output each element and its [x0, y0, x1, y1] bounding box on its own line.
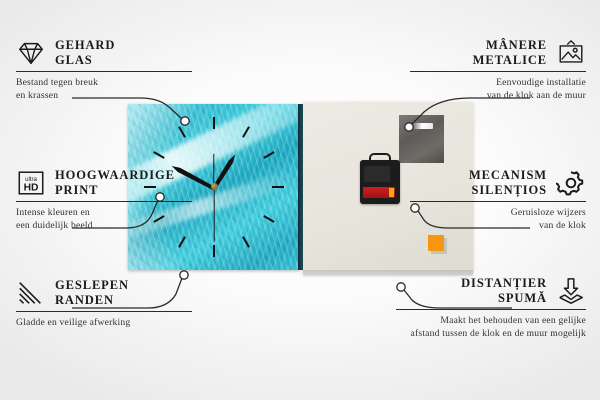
feature-title: GESLEPEN RANDEN	[55, 278, 129, 309]
feature-desc-line1: Gladde en veilige afwerking	[16, 316, 192, 329]
hour-tick	[213, 117, 215, 129]
feature-header: MECANISM SILENȚIOS	[410, 168, 586, 199]
feature-header: DISTANȚIER SPUMĂ	[396, 276, 586, 307]
metal-hanger-plate	[399, 115, 444, 163]
feature-title-line1: MECANISM	[469, 168, 547, 183]
feature-description: Bestand tegen breuk en krassen	[16, 72, 192, 102]
feature-title-line2: RANDEN	[55, 293, 129, 308]
hour-tick	[264, 215, 275, 223]
feature-header: GESLEPEN RANDEN	[16, 278, 192, 309]
hour-tick	[213, 245, 215, 257]
infographic-canvas: GEHARD GLAS Bestand tegen breuk en krass…	[0, 0, 600, 400]
feature-title-line2: PRINT	[55, 183, 175, 198]
feature-desc-line1: Intense kleuren en	[16, 206, 192, 219]
feature-distantier-spuma: DISTANȚIER SPUMĂ Maakt het behouden van …	[396, 276, 586, 340]
feature-title-line2: GLAS	[55, 53, 115, 68]
feature-manere-metalice: MÂNERE METALICE Eenvoudige installatie v…	[410, 38, 586, 102]
feature-desc-line1: Bestand tegen breuk	[16, 76, 192, 89]
feature-title-line2: METALICE	[473, 53, 547, 68]
hanger-slot	[409, 123, 433, 129]
diamond-icon	[16, 38, 46, 68]
feature-desc-line1: Eenvoudige installatie	[410, 76, 586, 89]
clock-center-pin	[211, 183, 218, 190]
feature-title: MÂNERE METALICE	[473, 38, 547, 69]
feature-description: Eenvoudige installatie van de klok aan d…	[410, 72, 586, 102]
battery	[363, 187, 395, 198]
feature-description: Geruisloze wijzers van de klok	[410, 202, 586, 232]
bevelled-edge-icon	[16, 278, 46, 308]
feature-gehard-glas: GEHARD GLAS Bestand tegen breuk en krass…	[16, 38, 192, 102]
foam-spacer-icon	[556, 276, 586, 306]
hour-tick	[178, 237, 186, 248]
feature-header: MÂNERE METALICE	[410, 38, 586, 69]
hour-tick	[153, 151, 164, 159]
clock-mechanism	[360, 160, 400, 204]
feature-title-line1: GEHARD	[55, 38, 115, 53]
feature-title-line2: SPUMĂ	[461, 291, 547, 306]
hanging-picture-icon	[556, 38, 586, 68]
feature-title: HOOGWAARDIGE PRINT	[55, 168, 175, 199]
feature-desc-line1: Geruisloze wijzers	[410, 206, 586, 219]
feature-title: DISTANȚIER SPUMĂ	[461, 276, 547, 307]
feature-description: Intense kleuren en een duidelijk beeld	[16, 202, 192, 232]
feature-title-line1: GESLEPEN	[55, 278, 129, 293]
hour-tick	[272, 186, 284, 188]
feature-desc-line1: Maakt het behouden van een gelijke	[396, 314, 586, 327]
foam-spacer	[428, 235, 444, 251]
feature-title: MECANISM SILENȚIOS	[469, 168, 547, 199]
feature-mecanism-silentios: MECANISM SILENȚIOS Geruisloze wijzers va…	[410, 168, 586, 232]
feature-title-line1: MÂNERE	[473, 38, 547, 53]
feature-desc-line2: afstand tussen de klok en de muur mogeli…	[396, 327, 586, 340]
second-hand	[213, 188, 214, 242]
feature-desc-line2: van de klok	[410, 219, 586, 232]
feature-header: ultra HD HOOGWAARDIGE PRINT	[16, 168, 192, 199]
feature-geslepen-randen: GESLEPEN RANDEN Gladde en veilige afwerk…	[16, 278, 192, 329]
feature-desc-line2: en krassen	[16, 89, 192, 102]
feature-desc-line2: van de klok aan de muur	[410, 89, 586, 102]
feature-desc-line2: een duidelijk beeld	[16, 219, 192, 232]
battery-terminal	[389, 188, 394, 197]
gear-icon	[556, 168, 586, 198]
feature-description: Maakt het behouden van een gelijke afsta…	[396, 310, 586, 340]
feature-description: Gladde en veilige afwerking	[16, 312, 192, 329]
ultra-hd-icon-bottom-text: HD	[24, 183, 39, 194]
feature-title-line1: HOOGWAARDIGE	[55, 168, 175, 183]
ultra-hd-icon: ultra HD	[16, 168, 46, 198]
feature-header: GEHARD GLAS	[16, 38, 192, 69]
hour-tick	[242, 237, 250, 248]
hour-tick	[242, 126, 250, 137]
hour-tick	[178, 126, 186, 137]
hour-tick	[264, 151, 275, 159]
feature-title: GEHARD GLAS	[55, 38, 115, 69]
feature-title-line1: DISTANȚIER	[461, 276, 547, 291]
feature-title-line2: SILENȚIOS	[469, 183, 547, 198]
mechanism-hook	[369, 153, 391, 165]
mechanism-body	[364, 166, 390, 182]
feature-hoogwaardige-print: ultra HD HOOGWAARDIGE PRINT Intense kleu…	[16, 168, 192, 232]
